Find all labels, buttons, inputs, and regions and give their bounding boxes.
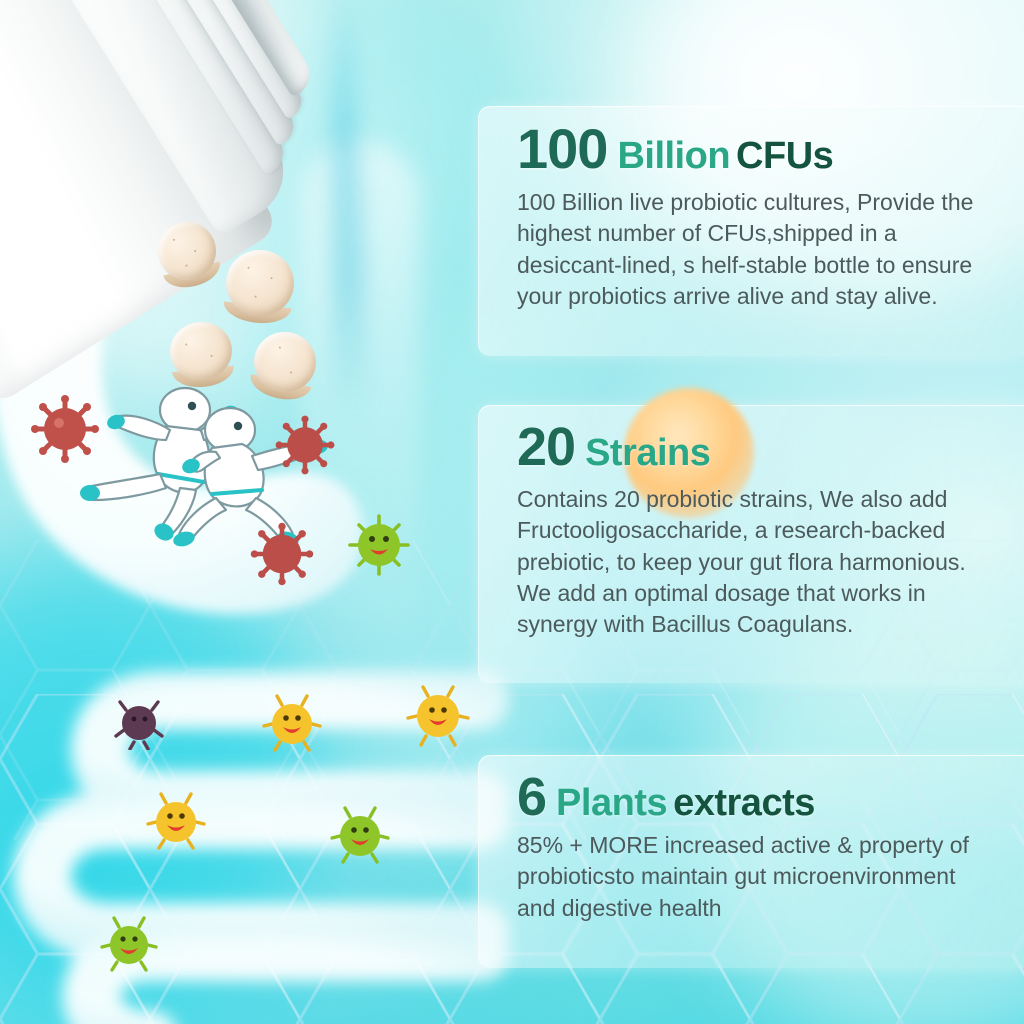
- headline-mid: Billion: [617, 135, 730, 177]
- gut-microbe-green: [330, 806, 390, 866]
- headline-number: 100: [517, 117, 607, 180]
- headline-end: CFUs: [736, 135, 833, 177]
- headline-number: 6: [517, 767, 546, 827]
- panel-headline: 6Plantsextracts: [517, 770, 994, 824]
- headline-mid: Strains: [585, 432, 710, 474]
- panel-content: 6Plantsextracts 85% + MORE increased act…: [479, 756, 1024, 924]
- gut-microbe-green: [348, 514, 410, 576]
- panel-body-text: 85% + MORE increased active & property o…: [517, 830, 994, 924]
- bad-bacteria-germ: [248, 520, 316, 588]
- panel-headline: 100BillionCFUs: [517, 121, 994, 177]
- panel-body-text: Contains 20 probiotic strains, We also a…: [517, 484, 994, 640]
- panel-content: 100BillionCFUs 100 Billion live probioti…: [479, 107, 1024, 312]
- gut-microbe-green: [100, 916, 158, 974]
- gut-microbe-yellow: [262, 694, 322, 754]
- tablet: [248, 326, 321, 398]
- gut-microbe-yellow: [146, 792, 206, 852]
- gut-microbe-yellow: [406, 684, 470, 748]
- feature-panel-plants: 6Plantsextracts 85% + MORE increased act…: [478, 755, 1024, 968]
- infographic-canvas: KFG MEN'S BIO: [0, 0, 1024, 1024]
- headline-mid: Plants: [556, 782, 667, 824]
- gut-microbe-purple: [112, 696, 166, 750]
- panel-body-text: 100 Billion live probiotic cultures, Pro…: [517, 187, 994, 312]
- background-streak: [352, 120, 362, 420]
- feature-panel-cfus: 100BillionCFUs 100 Billion live probioti…: [478, 106, 1024, 356]
- tablet: [167, 319, 235, 383]
- panel-content: 20Strains Contains 20 probiotic strains,…: [479, 406, 1024, 640]
- feature-panel-strains: 20Strains Contains 20 probiotic strains,…: [478, 405, 1024, 683]
- background-wash: [0, 560, 320, 980]
- bad-bacteria-germ: [272, 412, 338, 478]
- headline-end: extracts: [673, 782, 815, 824]
- panel-headline: 20Strains: [517, 420, 994, 474]
- headline-number: 20: [517, 417, 575, 477]
- bad-bacteria-germ: [28, 392, 102, 466]
